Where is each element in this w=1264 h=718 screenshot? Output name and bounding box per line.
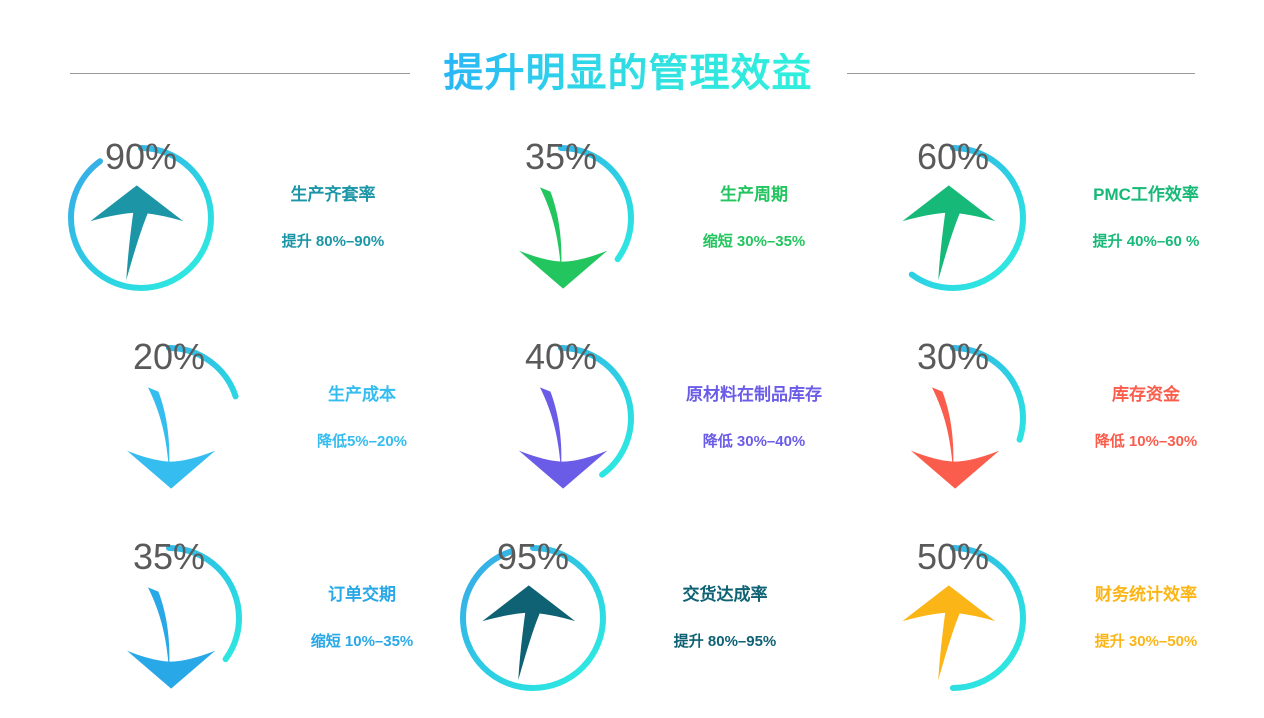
metric-texts: 订单交期缩短 10%–35%: [270, 585, 454, 651]
metric-card: 50%财务统计效率提升 30%–50%: [846, 518, 1238, 718]
header-rule-left: [70, 73, 410, 74]
metric-sublabel: 缩短 10%–35%: [311, 633, 414, 651]
gauge-ring: 60%: [874, 139, 1032, 297]
header-rule-right: [847, 73, 1195, 74]
page-title: 提升明显的管理效益: [444, 53, 813, 93]
metric-card: 35%订单交期缩短 10%–35%: [62, 518, 454, 718]
metric-texts: 交货达成率提升 80%–95%: [630, 585, 820, 651]
gauge-ring: 20%: [90, 339, 248, 497]
metric-sublabel: 降低 30%–40%: [703, 433, 806, 451]
metric-label: 生产齐套率: [291, 185, 376, 205]
gauge-ring: 35%: [482, 139, 640, 297]
metric-card: 30%库存资金降低 10%–30%: [846, 318, 1238, 518]
metric-card: 35%生产周期缩短 30%–35%: [454, 118, 846, 318]
metric-card: 95%交货达成率提升 80%–95%: [454, 518, 846, 718]
metric-card: 90%生产齐套率提升 80%–90%: [62, 118, 454, 318]
metric-label: 生产成本: [328, 385, 396, 405]
metric-card: 40%原材料在制品库存降低 30%–40%: [454, 318, 846, 518]
gauge-ring: 95%: [454, 539, 612, 697]
metric-texts: 库存资金降低 10%–30%: [1054, 385, 1238, 451]
gauge-ring: 30%: [874, 339, 1032, 497]
gauge-ring: 50%: [874, 539, 1032, 697]
metric-sublabel: 提升 80%–90%: [282, 233, 385, 251]
metric-texts: 原材料在制品库存降低 30%–40%: [662, 385, 846, 451]
gauge-ring: 90%: [62, 139, 220, 297]
metric-label: 交货达成率: [683, 585, 768, 605]
metric-card: 20%生产成本降低5%–20%: [62, 318, 454, 518]
metric-sublabel: 缩短 30%–35%: [703, 233, 806, 251]
metric-texts: 生产周期缩短 30%–35%: [662, 185, 846, 251]
gauge-ring: 35%: [90, 539, 248, 697]
metric-label: 财务统计效率: [1095, 585, 1197, 605]
metric-card: 60%PMC工作效率提升 40%–60 %: [846, 118, 1238, 318]
metric-texts: PMC工作效率提升 40%–60 %: [1054, 185, 1238, 251]
metric-sublabel: 提升 40%–60 %: [1093, 233, 1200, 251]
metric-label: 原材料在制品库存: [686, 385, 822, 405]
metric-label: PMC工作效率: [1093, 185, 1199, 205]
metric-label: 生产周期: [720, 185, 788, 205]
metric-label: 订单交期: [328, 585, 396, 605]
metric-label: 库存资金: [1112, 385, 1180, 405]
metric-sublabel: 降低 10%–30%: [1095, 433, 1198, 451]
page-header: 提升明显的管理效益: [0, 45, 1264, 101]
metric-sublabel: 提升 80%–95%: [674, 633, 777, 651]
metrics-grid: 90%生产齐套率提升 80%–90%35%生产周期缩短 30%–35%60%PM…: [0, 118, 1264, 710]
metric-texts: 生产成本降低5%–20%: [270, 385, 454, 451]
gauge-ring: 40%: [482, 339, 640, 497]
metric-sublabel: 提升 30%–50%: [1095, 633, 1198, 651]
metric-sublabel: 降低5%–20%: [317, 433, 407, 451]
metric-texts: 生产齐套率提升 80%–90%: [238, 185, 428, 251]
metric-texts: 财务统计效率提升 30%–50%: [1054, 585, 1238, 651]
